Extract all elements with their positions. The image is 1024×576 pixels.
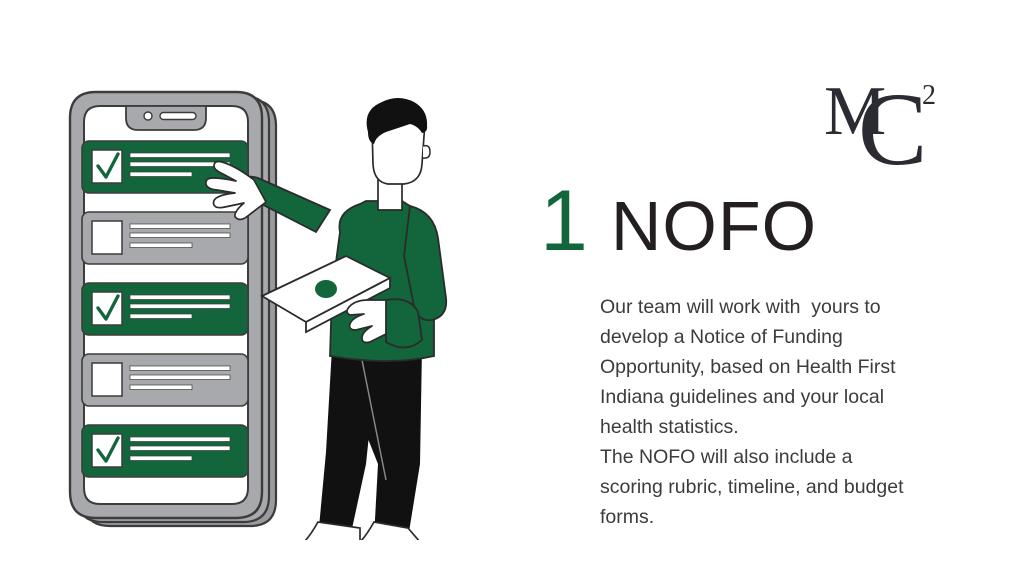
ear [423,146,430,159]
checklist-card-5[interactable] [82,425,248,477]
checkbox-unchecked [92,363,122,396]
laptop-logo [315,280,337,298]
mc2-logo: C M 2 [824,72,956,176]
headline-text: NOFO [611,191,817,261]
logo-letter-m: M [824,73,886,150]
camera-dot-icon [144,112,152,120]
logo-superscript-2: 2 [922,80,936,111]
slide-canvas: C M 2 1 NOFO Our team will work with you… [0,0,1024,576]
page-title: 1 NOFO [540,178,960,270]
illustration-area [30,60,490,540]
body-paragraph: Our team will work with yours to develop… [600,292,920,532]
checklist-card-3[interactable] [82,283,248,335]
checkbox-unchecked [92,221,122,254]
trouser-left [318,348,378,538]
text-column: 1 NOFO Our team will work with yours to … [540,178,960,532]
checklist-card-2[interactable] [82,212,248,264]
step-number: 1 [540,178,587,264]
smartphone-checklist [70,92,276,526]
speaker-bar-icon [160,113,196,120]
checklist-card-4[interactable] [82,354,248,406]
shoe-right [358,522,422,540]
